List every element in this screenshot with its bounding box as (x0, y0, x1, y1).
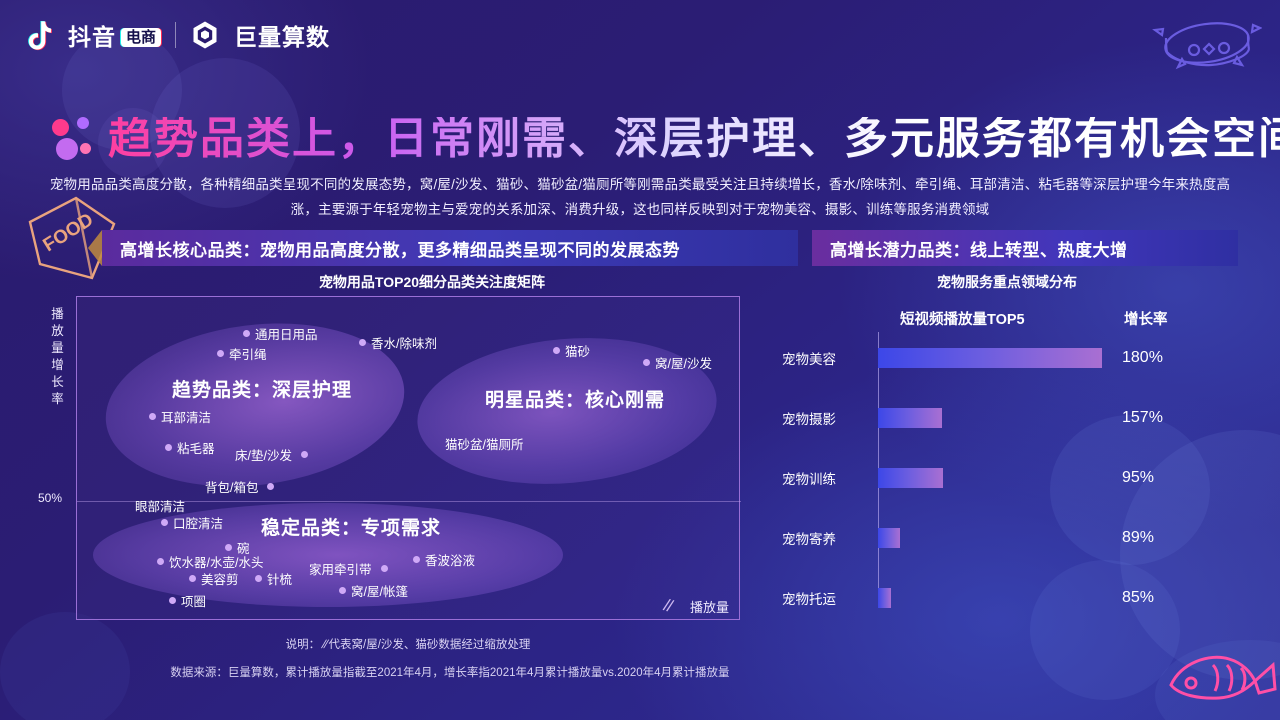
data-point: 家用牵引带 (309, 559, 388, 578)
point-label: 香水/除味剂 (371, 333, 437, 352)
bar-growth-value: 180% (1122, 349, 1163, 367)
tiktok-note-icon (24, 19, 54, 51)
matrix-y-axis-label: 播放量增长率 (47, 306, 69, 408)
bar-growth-value: 157% (1122, 409, 1163, 427)
data-point: 香水/除味剂 (359, 333, 437, 352)
point-label: 猫砂盆/猫厕所 (445, 434, 523, 453)
point-marker (225, 544, 232, 551)
point-label: 美容剪 (201, 569, 239, 588)
bar-growth-value: 89% (1122, 529, 1154, 547)
bar-track (878, 588, 1102, 608)
point-marker (149, 413, 156, 420)
bar-track (878, 528, 1102, 548)
bar-growth-value: 95% (1122, 469, 1154, 487)
data-point: 粘毛器 (165, 438, 215, 457)
point-label: 耳部清洁 (161, 407, 211, 426)
point-label: 牵引绳 (229, 344, 267, 363)
page-title: 趋势品类上，日常刚需、深层护理、多元服务都有机会空间 (108, 117, 1280, 161)
dog-collar-icon (1152, 8, 1262, 83)
bar-category-label: 宠物寄养 (782, 528, 874, 548)
point-label: 背包/箱包 (205, 477, 258, 496)
point-marker (553, 347, 560, 354)
point-label: 床/垫/沙发 (235, 445, 292, 464)
bar-fill (878, 528, 900, 548)
brand-name-text: 抖音 (68, 24, 116, 50)
point-marker (301, 451, 308, 458)
bar-row: 宠物训练 95% (782, 458, 1202, 498)
juliang-hex-icon (190, 20, 220, 50)
point-label: 窝/屋/帐篷 (351, 581, 408, 600)
data-point: 通用日用品 (243, 324, 318, 343)
lede-paragraph: 宠物用品品类高度分散，各种精细品类呈现不同的发展态势，窝/屋/沙发、猫砂、猫砂盆… (48, 172, 1232, 222)
point-label: 香波浴液 (425, 550, 475, 569)
matrix-x-axis-label: 播放量 (690, 597, 729, 616)
point-marker (157, 558, 164, 565)
bar-row: 宠物寄养 89% (782, 518, 1202, 558)
point-label: 通用日用品 (255, 324, 318, 343)
bg-blob (1155, 640, 1280, 720)
juliang-name: 巨量算数 (234, 18, 330, 52)
fish-icon (1163, 635, 1278, 720)
footnote-text: 代表窝/屋/沙发、猫砂数据经过缩放处理 (329, 639, 531, 651)
bar-col-header-growth: 增长率 (1124, 308, 1168, 329)
bar-fill (878, 588, 891, 608)
point-label: 猫砂 (565, 341, 590, 360)
cluster-label-star: 明星品类：核心刚需 (485, 385, 665, 412)
slide-root: 抖音电商 巨量算数 FOOD (0, 0, 1280, 720)
bar-track (878, 468, 1102, 488)
footnote-prefix: 说明： (286, 639, 321, 651)
point-marker (413, 556, 420, 563)
data-point: 口腔清洁 (161, 513, 223, 532)
point-marker (165, 444, 172, 451)
data-point: 床/垫/沙发 (235, 445, 308, 464)
decorative-dots-icon (52, 117, 94, 161)
section-ribbon-left: 高增长核心品类：宠物用品高度分散，更多精细品类呈现不同的发展态势 (102, 230, 798, 266)
bar-track (878, 348, 1102, 368)
bar-fill (878, 408, 942, 428)
cluster-label-stable: 稳定品类：专项需求 (261, 513, 441, 540)
point-marker (161, 519, 168, 526)
point-marker (217, 350, 224, 357)
section-ribbon-right: 高增长潜力品类：线上转型、热度大增 (812, 230, 1238, 266)
data-point: 针梳 (255, 569, 292, 588)
point-label: 针梳 (267, 569, 292, 588)
point-marker (267, 483, 274, 490)
bar-category-label: 宠物美容 (782, 348, 874, 368)
point-label: 口腔清洁 (173, 513, 223, 532)
bar-track (878, 408, 1102, 428)
data-point: 窝/屋/帐篷 (339, 581, 408, 600)
bar-fill (878, 468, 943, 488)
data-point: 猫砂 (553, 341, 590, 360)
point-marker (243, 330, 250, 337)
data-point: 窝/屋/沙发 (643, 353, 712, 372)
point-marker (169, 597, 176, 604)
bar-category-label: 宠物训练 (782, 468, 874, 488)
point-marker (381, 565, 388, 572)
point-marker (339, 587, 346, 594)
point-label: 家用牵引带 (309, 559, 372, 578)
data-point: 香波浴液 (413, 550, 475, 569)
brand-name: 抖音电商 (68, 18, 161, 52)
point-label: 窝/屋/沙发 (655, 353, 712, 372)
point-marker (359, 339, 366, 346)
data-point: 美容剪 (189, 569, 239, 588)
source-note: 数据来源：巨量算数，累计播放量指截至2021年4月，增长率指2021年4月累计播… (0, 664, 900, 680)
bar-category-label: 宠物托运 (782, 588, 874, 608)
point-marker (643, 359, 650, 366)
point-label: 项圈 (181, 591, 206, 610)
data-point: 耳部清洁 (149, 407, 211, 426)
point-marker (255, 575, 262, 582)
bar-row: 宠物美容 180% (782, 338, 1202, 378)
cluster-label-trend: 趋势品类：深层护理 (172, 375, 352, 402)
bar-chart-title: 宠物服务重点领域分布 (812, 272, 1202, 292)
bar-col-header-plays: 短视频播放量TOP5 (900, 308, 1025, 329)
brand-header: 抖音电商 巨量算数 (24, 18, 330, 52)
point-label: 粘毛器 (177, 438, 215, 457)
data-point: 背包/箱包 (205, 477, 274, 496)
matrix-y-tick-50: 50% (38, 491, 62, 505)
section-ribbon-right-text: 高增长潜力品类：线上转型、热度大增 (830, 236, 1128, 261)
bar-row: 宠物摄影 157% (782, 398, 1202, 438)
matrix-chart-plot: 趋势品类：深层护理 明星品类：核心刚需 稳定品类：专项需求 通用日用品 牵引绳 … (76, 296, 740, 620)
data-point: 猫砂盆/猫厕所 (445, 434, 523, 453)
brand-ecom-badge: 电商 (121, 28, 161, 47)
point-marker (189, 575, 196, 582)
data-point: 牵引绳 (217, 344, 267, 363)
matrix-footnote: 说明：//代表窝/屋/沙发、猫砂数据经过缩放处理 (76, 636, 740, 652)
header-divider (175, 22, 176, 48)
bar-fill (878, 348, 1102, 368)
section-ribbon-left-text: 高增长核心品类：宠物用品高度分散，更多精细品类呈现不同的发展态势 (120, 236, 680, 261)
bar-growth-value: 85% (1122, 589, 1154, 607)
data-point: 项圈 (169, 591, 206, 610)
bar-category-label: 宠物摄影 (782, 408, 874, 428)
matrix-chart-title: 宠物用品TOP20细分品类关注度矩阵 (102, 272, 762, 292)
bar-row: 宠物托运 85% (782, 578, 1202, 618)
